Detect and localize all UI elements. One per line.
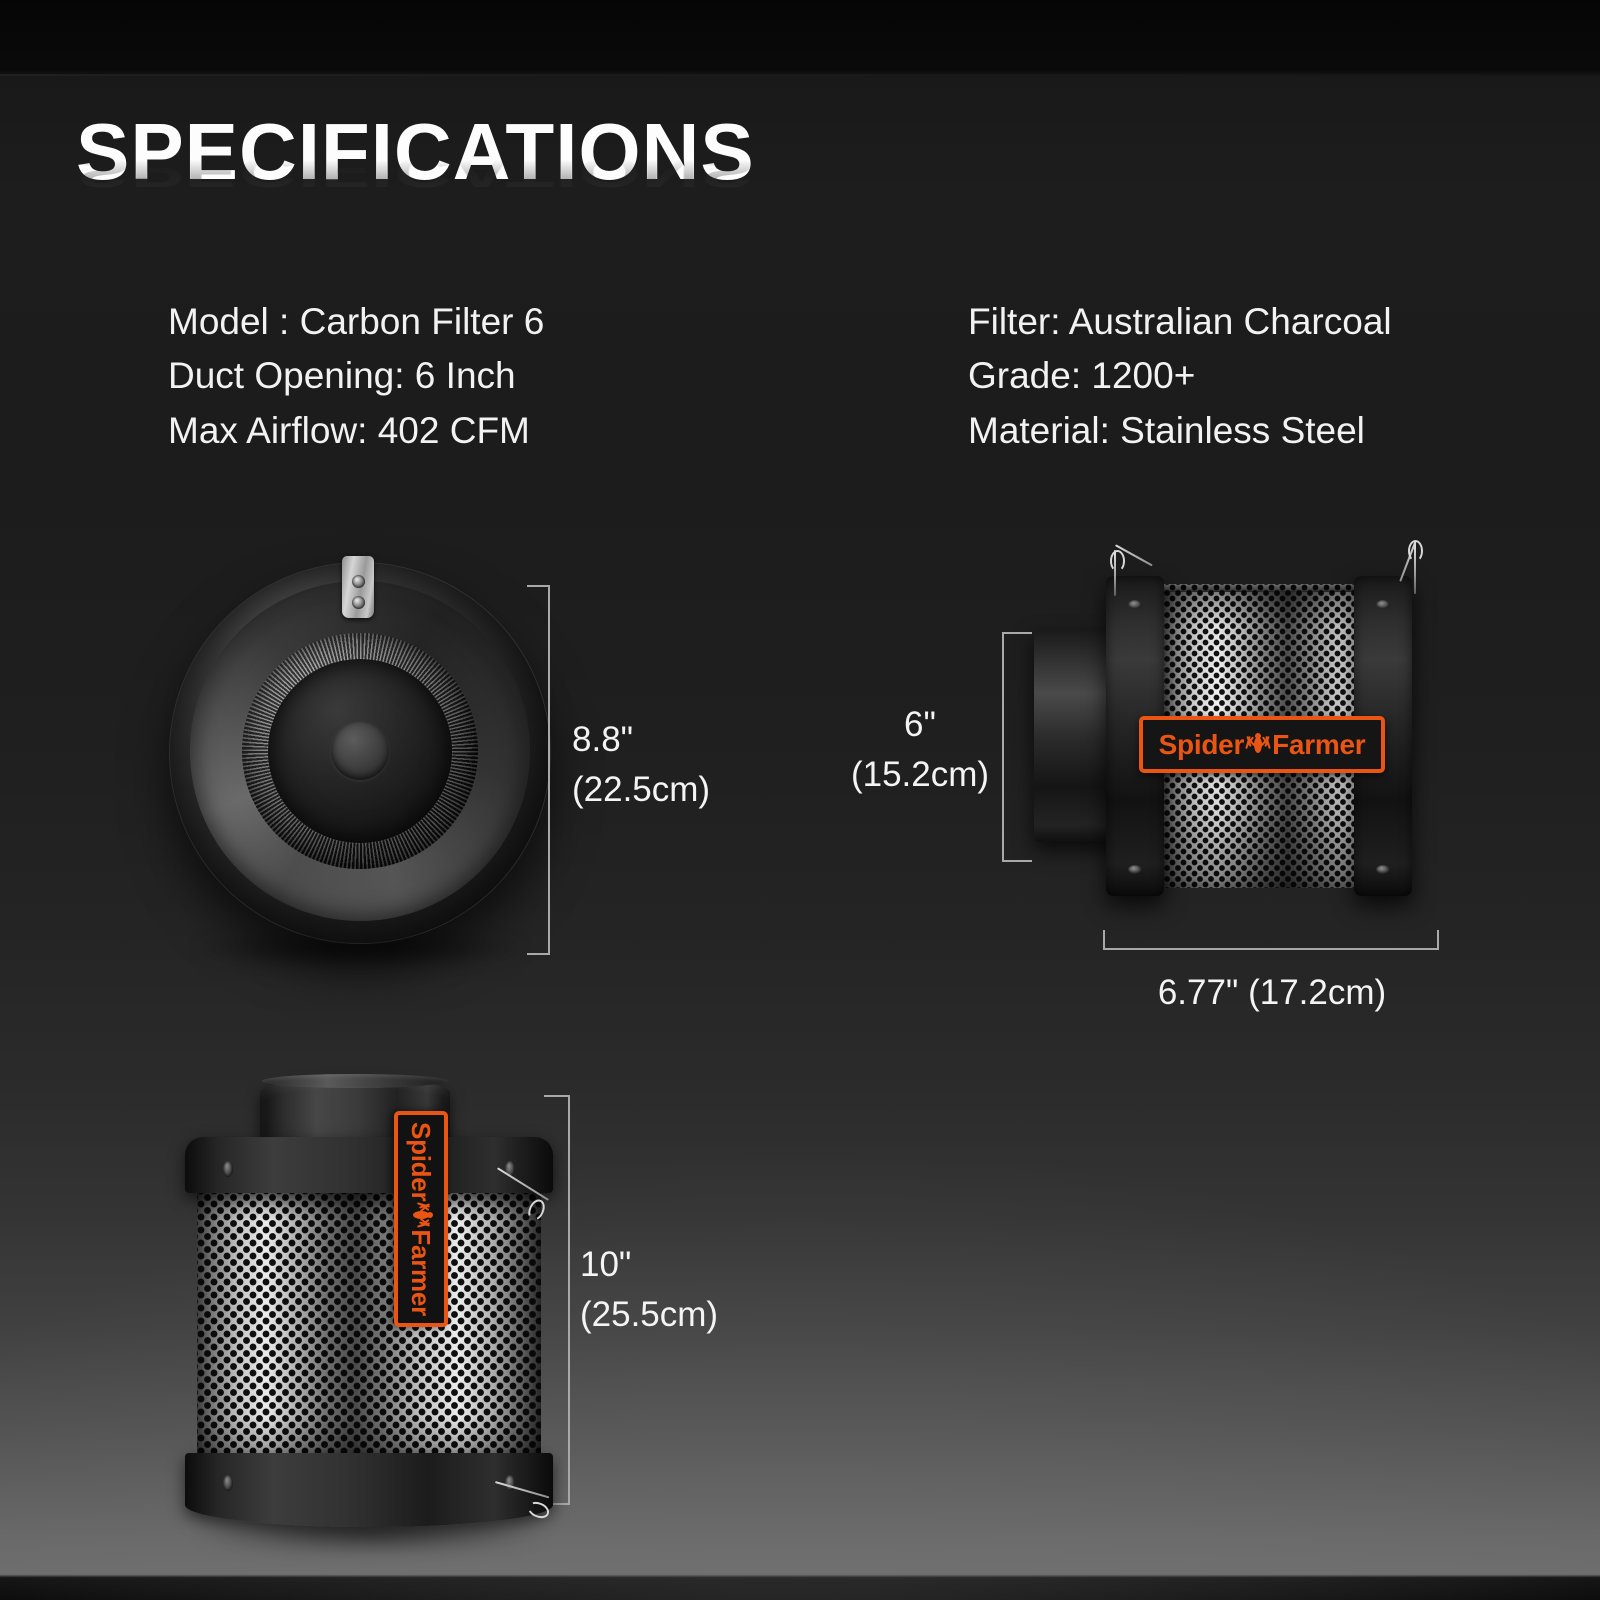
dim-value-metric: (15.2cm)	[846, 750, 994, 800]
dim-value-inches: 8.8"	[572, 715, 710, 765]
hanger-wire-right	[1402, 532, 1464, 594]
dim-line	[1002, 632, 1004, 862]
dim-value-inches: 6"	[846, 700, 994, 750]
cap-screw-left	[223, 1161, 233, 1177]
dim-line	[1103, 948, 1439, 950]
spec-item-filter: Filter: Australian Charcoal	[968, 295, 1392, 349]
wire-loop	[525, 1499, 551, 1521]
cap-screw-top	[1128, 600, 1142, 609]
brand-badge-horizontal: Spider Farmer	[1139, 716, 1385, 773]
brand-badge-vertical: Spider Farmer	[394, 1111, 448, 1327]
dim-value-inches: 10"	[580, 1240, 718, 1290]
bracket-bolt-bottom	[352, 596, 365, 609]
hanger-wire-lower	[487, 1475, 567, 1535]
brand-name-part1: Spider	[1159, 731, 1244, 759]
wire-loop	[1408, 540, 1423, 562]
dim-tick-top	[544, 1095, 570, 1097]
spider-icon	[1245, 731, 1271, 759]
spec-item-duct-opening: Duct Opening: 6 Inch	[168, 349, 544, 403]
dim-tick-bottom	[1002, 860, 1032, 862]
wire-loop	[525, 1197, 548, 1223]
background-band-divider	[0, 74, 1600, 76]
dim-tick-top	[1002, 632, 1032, 634]
mesh-shading	[197, 1187, 541, 1459]
cap-screw-top	[1376, 600, 1390, 609]
upright-perforated-mesh	[197, 1187, 541, 1459]
cap-screw-bottom	[1376, 865, 1390, 874]
dim-line	[568, 1095, 570, 1505]
spec-item-model: Model : Carbon Filter 6	[168, 295, 544, 349]
bracket-bolt-top	[352, 575, 365, 588]
brand-name-part2: Farmer	[1272, 731, 1365, 759]
hanger-wire-upper	[493, 1163, 563, 1233]
wire-arm	[497, 1167, 549, 1200]
cap-screw-left	[223, 1475, 233, 1491]
dim-value-metric: (25.5cm)	[580, 1290, 718, 1340]
specification-slide: SPECIFICATIONS SPECIFICATIONS Model : Ca…	[0, 0, 1600, 1600]
spec-column-right: Filter: Australian Charcoal Grade: 1200+…	[968, 295, 1392, 458]
page-title: SPECIFICATIONS	[76, 112, 976, 192]
dim-tick-right	[1437, 930, 1439, 950]
front-center-hub	[331, 722, 389, 780]
front-clamp-bracket	[342, 556, 374, 618]
spider-icon	[407, 1202, 435, 1228]
brand-name-part1: Spider	[408, 1122, 434, 1201]
wire-arm	[495, 1481, 549, 1498]
dim-value-combined: 6.77" (17.2cm)	[1103, 968, 1441, 1018]
spec-item-grade: Grade: 1200+	[968, 349, 1392, 403]
spec-item-max-airflow: Max Airflow: 402 CFM	[168, 404, 544, 458]
spec-column-left: Model : Carbon Filter 6 Duct Opening: 6 …	[168, 295, 544, 458]
dim-tick-left	[1103, 930, 1105, 950]
page-title-wrapper: SPECIFICATIONS SPECIFICATIONS	[76, 112, 976, 262]
hanger-wire-left	[1110, 536, 1172, 596]
wire-loop	[1110, 550, 1125, 572]
product-upright-view	[175, 1075, 575, 1555]
cap-screw-bottom	[1128, 865, 1142, 874]
dim-tick-top	[527, 585, 550, 587]
dim-line	[548, 585, 550, 955]
dim-value-metric: (22.5cm)	[572, 765, 710, 815]
product-front-view	[150, 555, 570, 985]
spec-item-material: Material: Stainless Steel	[968, 404, 1392, 458]
dim-tick-bottom	[527, 953, 550, 955]
brand-name-part2: Farmer	[408, 1229, 434, 1316]
